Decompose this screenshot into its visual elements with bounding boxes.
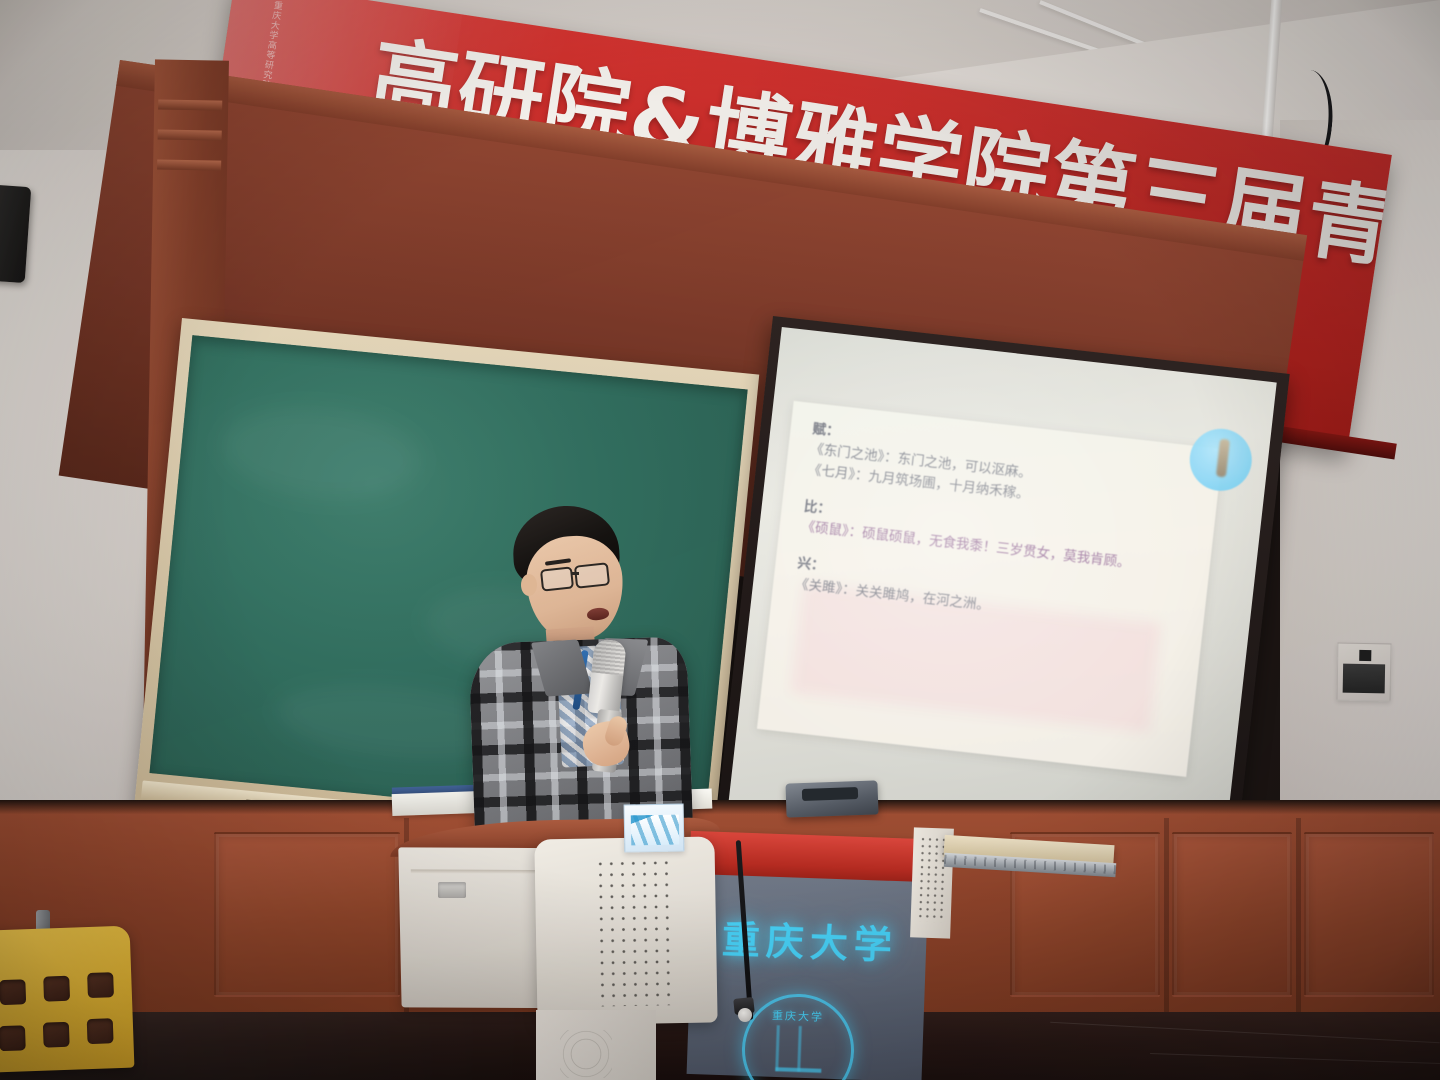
wainscot-panel <box>1172 832 1292 997</box>
chair-cutout <box>0 979 26 1005</box>
wainscot-gap <box>1164 818 1169 1018</box>
chair-cutout <box>0 1025 26 1051</box>
panel-display <box>1343 664 1385 694</box>
wainscot-gap <box>1296 818 1301 1018</box>
university-logo-glyph <box>775 1025 823 1073</box>
chair-cutout <box>43 976 70 1002</box>
document-camera-slot <box>802 787 858 801</box>
chair-cutout <box>43 1022 70 1048</box>
glasses-icon <box>540 566 574 591</box>
drawer-handle-icon[interactable] <box>438 882 466 898</box>
lectern-console[interactable] <box>534 836 717 1025</box>
university-logo-caption: 重庆大学 <box>754 1006 843 1025</box>
microphone-head-icon <box>738 1008 752 1022</box>
lecture-hall-photo: 重庆大学高等研究院 高研院&博雅学院第三届青年教师教学基本功比赛 赋： 《东门之… <box>0 0 1440 1080</box>
wainscot-panel <box>214 832 400 997</box>
wainscot-panel <box>1304 832 1434 997</box>
microphone-grille <box>591 639 626 676</box>
wood-column-notch <box>157 159 221 170</box>
screen-surface: 赋： 《东门之池》：东门之池，可以沤麻。 《七月》：九月筑场圃，十月纳禾稼。 比… <box>729 327 1277 858</box>
tissue-box <box>624 803 685 852</box>
presentation-slide: 赋： 《东门之池》：东门之池，可以沤麻。 《七月》：九月筑场圃，十月纳禾稼。 比… <box>757 401 1223 777</box>
wall-control-panel[interactable] <box>1336 643 1391 702</box>
chair-cutout <box>87 972 114 998</box>
university-name: 重庆大学 <box>721 909 913 971</box>
panel-button-icon[interactable] <box>1359 650 1371 661</box>
chair-backrest <box>0 926 134 1073</box>
chair[interactable] <box>0 928 140 1080</box>
wood-column-notch <box>158 129 222 140</box>
glasses-icon <box>574 562 610 588</box>
wood-column-notch <box>158 99 222 110</box>
chalk-smudge <box>218 399 426 508</box>
lectern: 重庆大学 重庆大学 <box>390 790 1000 1080</box>
chair-cutout <box>87 1018 114 1044</box>
fan-vent-icon <box>560 1030 612 1078</box>
glasses-bridge <box>572 572 579 575</box>
tissue-box-artwork <box>631 815 680 846</box>
presenter-ear <box>521 574 537 596</box>
speaker-grille-icon <box>595 857 676 1006</box>
